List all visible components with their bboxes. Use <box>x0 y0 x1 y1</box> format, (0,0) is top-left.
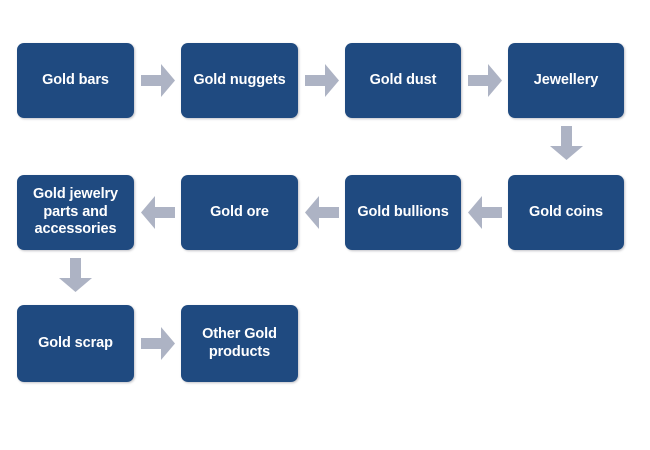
node-gold-scrap[interactable]: Gold scrap <box>17 305 134 382</box>
arrow-glyph-right-icon <box>468 64 502 97</box>
arrow-glyph-right-icon <box>305 64 339 97</box>
node-gold-dust[interactable]: Gold dust <box>345 43 461 118</box>
node-label-gold-nuggets: Gold nuggets <box>193 72 285 90</box>
arrow-glyph-down-icon <box>550 126 583 160</box>
node-gold-ore[interactable]: Gold ore <box>181 175 298 250</box>
arrow-gold-coins-to-gold-bullions <box>468 196 502 229</box>
arrow-glyph-left-icon <box>141 196 175 229</box>
arrow-gold-scrap-to-other-gold-products <box>141 327 175 360</box>
arrow-glyph-right-icon <box>141 327 175 360</box>
arrow-glyph-left-icon <box>305 196 339 229</box>
arrow-gold-bars-to-gold-nuggets <box>141 64 175 97</box>
arrow-gold-jewelry-parts-to-gold-scrap <box>59 258 92 292</box>
node-label-jewellery: Jewellery <box>534 72 598 90</box>
arrow-glyph-right-icon <box>141 64 175 97</box>
node-label-gold-bullions: Gold bullions <box>357 204 448 222</box>
node-jewellery[interactable]: Jewellery <box>508 43 624 118</box>
arrow-gold-nuggets-to-gold-dust <box>305 64 339 97</box>
node-gold-bullions[interactable]: Gold bullions <box>345 175 461 250</box>
arrow-glyph-down-icon <box>59 258 92 292</box>
node-label-gold-scrap: Gold scrap <box>38 335 113 353</box>
arrow-gold-bullions-to-gold-ore <box>305 196 339 229</box>
node-gold-bars[interactable]: Gold bars <box>17 43 134 118</box>
arrow-jewellery-to-gold-coins <box>550 126 583 160</box>
node-label-gold-coins: Gold coins <box>529 204 603 222</box>
node-gold-coins[interactable]: Gold coins <box>508 175 624 250</box>
flowchart-diagram: Gold barsGold nuggetsGold dustJewelleryG… <box>0 0 650 450</box>
arrow-glyph-left-icon <box>468 196 502 229</box>
node-label-gold-jewelry-parts: Gold jewelry parts and accessories <box>33 186 118 239</box>
node-label-other-gold-products: Other Gold products <box>202 326 277 362</box>
node-gold-nuggets[interactable]: Gold nuggets <box>181 43 298 118</box>
node-label-gold-bars: Gold bars <box>42 72 109 90</box>
node-label-gold-dust: Gold dust <box>370 72 437 90</box>
node-label-gold-ore: Gold ore <box>210 204 269 222</box>
node-gold-jewelry-parts[interactable]: Gold jewelry parts and accessories <box>17 175 134 250</box>
arrow-gold-dust-to-jewellery <box>468 64 502 97</box>
node-other-gold-products[interactable]: Other Gold products <box>181 305 298 382</box>
arrow-gold-ore-to-gold-jewelry-parts <box>141 196 175 229</box>
